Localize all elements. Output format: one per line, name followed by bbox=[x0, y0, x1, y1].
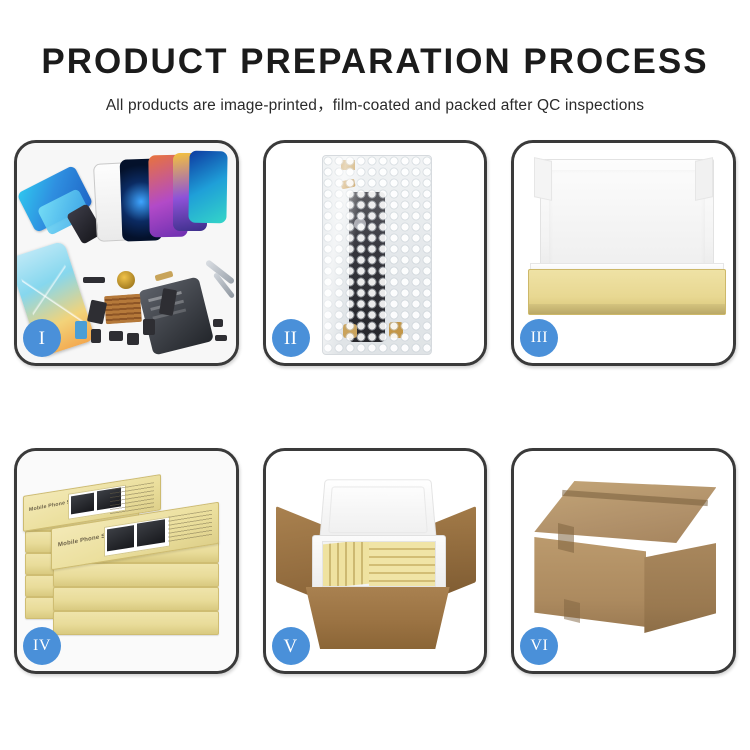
carton-side-face-icon bbox=[644, 543, 716, 633]
step-panel-4[interactable]: Mobile Phone Spare Parts Mobile Phone Sp… bbox=[14, 448, 239, 674]
step-badge-2: II bbox=[272, 319, 310, 357]
step-badge-5: V bbox=[272, 627, 310, 665]
battery-part-icon bbox=[75, 321, 87, 339]
screw-part-icon bbox=[213, 319, 223, 327]
step-numeral-6: VI bbox=[530, 638, 548, 654]
flex-cable-icon bbox=[87, 300, 107, 325]
step-numeral-2: II bbox=[284, 329, 298, 348]
small-component-icon bbox=[127, 333, 139, 345]
white-foam-lid-icon bbox=[540, 159, 714, 277]
yellow-box-group-left bbox=[323, 541, 369, 587]
screw-part-icon bbox=[215, 335, 227, 341]
box-flap-right-icon bbox=[695, 157, 713, 201]
speaker-coil-icon bbox=[117, 271, 135, 289]
stacked-box bbox=[53, 587, 219, 611]
box-flap-left-icon bbox=[534, 157, 552, 201]
carton-tape-icon bbox=[558, 523, 574, 553]
step-panel-2[interactable]: II bbox=[263, 140, 488, 366]
product-preparation-infographic: PRODUCT PREPARATION PROCESS All products… bbox=[0, 0, 750, 750]
page-subtitle: All products are image-printed，film-coat… bbox=[0, 79, 750, 115]
circuit-board-icon bbox=[104, 294, 142, 324]
step-numeral-4: IV bbox=[33, 638, 51, 654]
step-numeral-3: III bbox=[531, 330, 548, 346]
brown-carton-body-icon bbox=[306, 587, 450, 649]
box-spec-lines-icon bbox=[110, 482, 154, 515]
phone-screen-teal-icon bbox=[188, 151, 227, 224]
yellow-kraft-box-icon bbox=[528, 269, 726, 315]
steps-row-bottom: Mobile Phone Spare Parts Mobile Phone Sp… bbox=[14, 448, 736, 676]
foam-box-lid-icon bbox=[319, 479, 437, 541]
small-component-icon bbox=[143, 319, 155, 335]
header: PRODUCT PREPARATION PROCESS All products… bbox=[0, 0, 750, 115]
bubble-wrap-bag-icon bbox=[322, 155, 432, 355]
box-screen-image-icon bbox=[107, 525, 134, 551]
box-stack-icon: Mobile Phone Spare Parts Mobile Phone Sp… bbox=[23, 475, 235, 655]
step-panel-3[interactable]: III bbox=[511, 140, 736, 366]
gold-contact-icon bbox=[155, 271, 174, 282]
step-badge-1: I bbox=[23, 319, 61, 357]
box-screen-image-icon bbox=[137, 519, 165, 546]
steps-grid: I II bbox=[14, 140, 736, 676]
stacked-box bbox=[53, 611, 219, 635]
step-panel-5[interactable]: V bbox=[263, 448, 488, 674]
box-screen-image-icon bbox=[71, 493, 94, 515]
step-panel-1[interactable]: I bbox=[14, 140, 239, 366]
carton-front-face-icon bbox=[534, 537, 646, 627]
phone-back-cover-icon bbox=[138, 276, 214, 355]
step-numeral-5: V bbox=[284, 637, 298, 656]
carton-tape-icon bbox=[564, 599, 580, 623]
step-badge-4: IV bbox=[23, 627, 61, 665]
steps-row-top: I II bbox=[14, 140, 736, 368]
box-spec-lines-icon bbox=[168, 510, 212, 543]
small-component-icon bbox=[91, 329, 101, 343]
stacked-box bbox=[53, 563, 219, 587]
yellow-box-group-right bbox=[369, 542, 435, 586]
page-title: PRODUCT PREPARATION PROCESS bbox=[0, 0, 750, 79]
step-numeral-1: I bbox=[39, 329, 46, 348]
step-panel-6[interactable]: VI bbox=[511, 448, 736, 674]
small-component-icon bbox=[109, 331, 123, 341]
connector-part-icon bbox=[83, 277, 105, 283]
yellow-boxes-inside-icon bbox=[322, 541, 436, 587]
